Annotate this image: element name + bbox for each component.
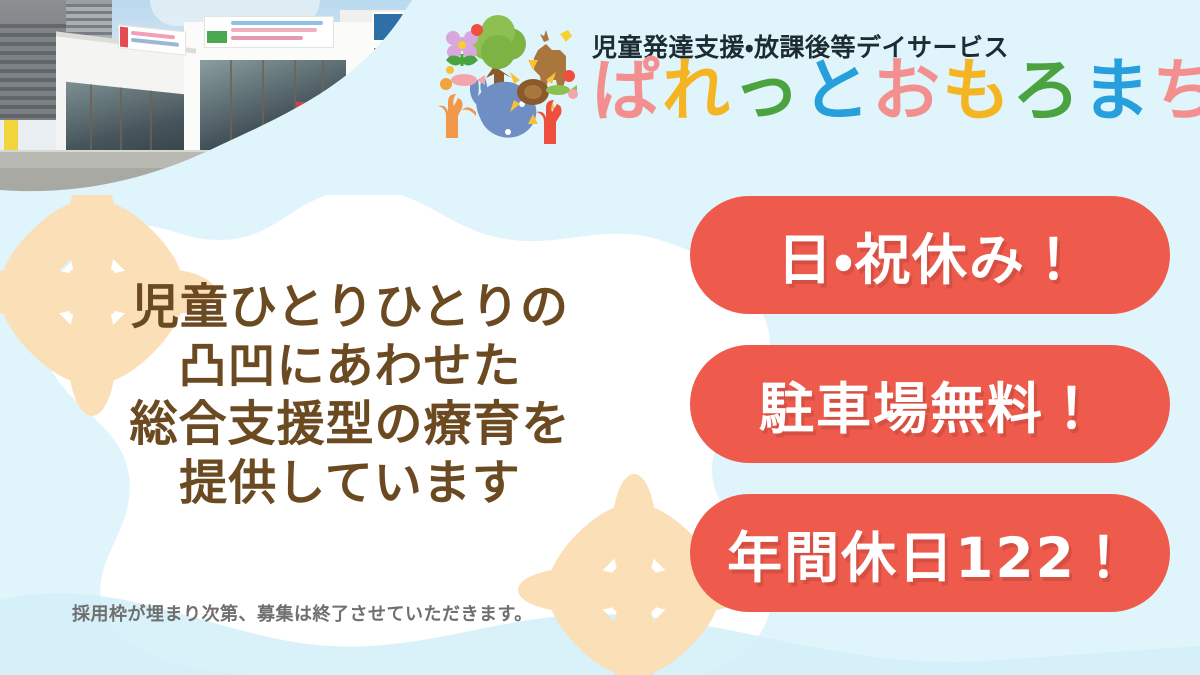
headline-text: 児童ひとりひとりの凸凹にあわせた総合支援型の療育を提供しています: [70, 278, 630, 512]
brand-logo[interactable]: 児童発達支援・放課後等デイサービス ぱれっとおもろまち: [432, 6, 1192, 151]
badge-holiday[interactable]: 日・祝休み！: [690, 196, 1170, 314]
logo-char-6: ろ: [1012, 58, 1082, 126]
headline-line-0: 児童ひとりひとりの: [70, 278, 630, 337]
bubble-icon: [446, 66, 454, 74]
logo-char-1: れ: [662, 58, 732, 126]
logo-char-4: お: [872, 58, 942, 126]
logo-char-5: も: [942, 58, 1012, 126]
red-dot-icon: [471, 24, 483, 36]
badge-annual-holidays[interactable]: 年間休日122！: [690, 494, 1170, 612]
logo-char-7: ま: [1082, 58, 1152, 126]
flower-icon: [446, 31, 478, 66]
logo-wordmark: ぱれっとおもろまち: [592, 58, 1200, 126]
nature-circle-icon: [432, 8, 582, 148]
fish-icon-left: [451, 74, 485, 86]
headline-line-1: 凸凹にあわせた: [70, 337, 630, 396]
logo-char-3: と: [802, 58, 872, 126]
bubble-icon: [563, 70, 575, 82]
photo-mask: [0, 0, 420, 195]
butterfly-icon: [560, 30, 572, 42]
bubble-icon: [440, 78, 452, 90]
logo-char-2: っ: [732, 58, 802, 126]
poster-canvas: 児童発達支援・放課後等デイサービス ぱれっとおもろまち 児童ひとりひとりの凸凹に…: [0, 0, 1200, 675]
coral-icon-right: [536, 100, 562, 144]
bubble-icon: [568, 89, 578, 99]
headline-line-3: 提供しています: [70, 454, 630, 513]
logo-char-8: ち: [1152, 58, 1200, 126]
headline-line-2: 総合支援型の療育を: [70, 395, 630, 454]
storefront-photo: [0, 0, 420, 195]
logo-char-0: ぱ: [592, 58, 662, 126]
coral-icon-left: [438, 94, 463, 138]
badge-free-parking[interactable]: 駐車場無料！: [690, 345, 1170, 463]
recruitment-note: 採用枠が埋まり次第、募集は終了させていただきます。: [72, 600, 632, 626]
